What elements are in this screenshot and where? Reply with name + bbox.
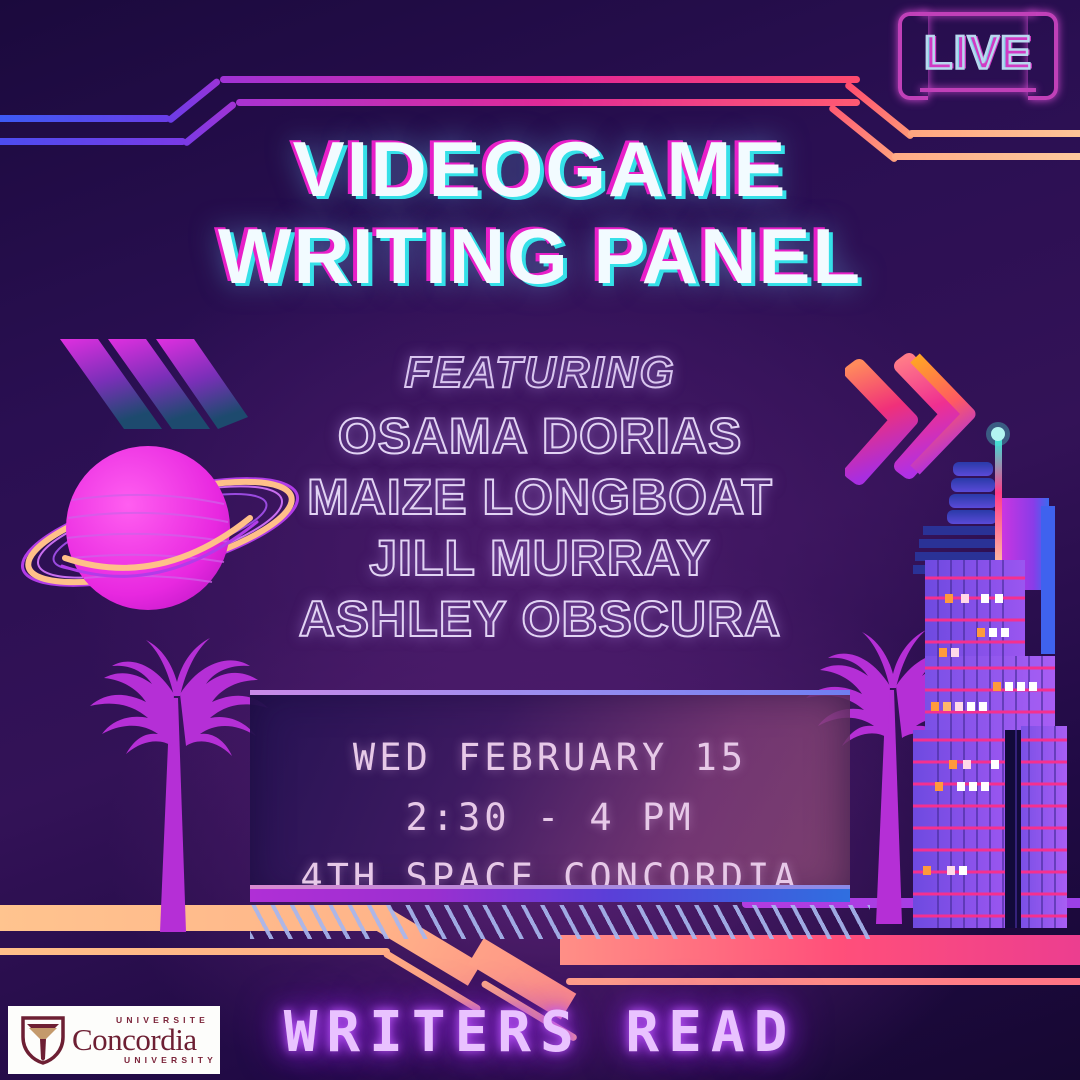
live-bar-bottom <box>920 88 1036 92</box>
info-box-top-border <box>250 690 850 695</box>
frame-line-top-a <box>220 76 860 83</box>
event-date: WED FEBRUARY 15 <box>250 728 850 788</box>
frame-line-bottom-right <box>566 978 1080 985</box>
logo-bottom-text: UNIVERSITY <box>124 1056 217 1065</box>
diagonal-hatch-stripes <box>250 905 870 939</box>
event-time: 2:30 - 4 PM <box>250 788 850 848</box>
event-details-text: WED FEBRUARY 15 2:30 - 4 PM 4TH SPACE CO… <box>250 728 850 908</box>
concordia-shield-icon <box>20 1015 66 1065</box>
title-line-1: VIDEOGAME <box>0 126 1080 213</box>
event-details-box: WED FEBRUARY 15 2:30 - 4 PM 4TH SPACE CO… <box>250 690 850 902</box>
frame-line-bottom-left <box>0 948 390 955</box>
frame-line-top-b <box>236 99 860 106</box>
poster-canvas: LIVE VIDEOGAME WRITING PANEL FEATURING O… <box>0 0 1080 1080</box>
concordia-logo: UNIVERSITE Concordia UNIVERSITY <box>8 1006 220 1074</box>
live-label: LIVE <box>898 25 1058 80</box>
triple-slash-icon <box>52 325 252 440</box>
frame-diagonal-top-left-a <box>166 77 222 124</box>
frame-line-top-left-a <box>0 115 170 122</box>
page-title: VIDEOGAME WRITING PANEL <box>0 126 1080 301</box>
city-skyline-icon <box>905 420 1080 932</box>
live-bar-top <box>920 12 1036 16</box>
concordia-wordmark: UNIVERSITE Concordia UNIVERSITY <box>72 1016 217 1064</box>
saturn-planet-icon <box>10 440 310 620</box>
logo-name: Concordia <box>72 1024 217 1055</box>
info-box-bottom-border <box>250 889 850 902</box>
palm-tree-icon <box>82 636 272 932</box>
live-badge: LIVE <box>898 12 1058 92</box>
title-line-2: WRITING PANEL <box>0 213 1080 300</box>
frame-band-bottom-right <box>560 935 1080 965</box>
